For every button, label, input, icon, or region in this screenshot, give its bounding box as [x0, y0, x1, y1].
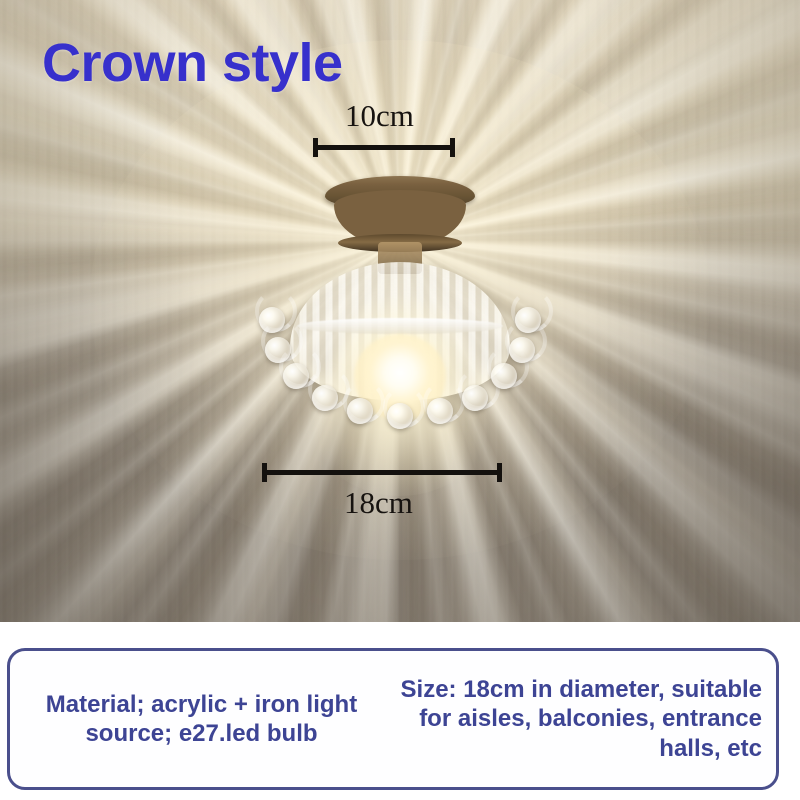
crown-knob — [515, 307, 541, 333]
crown-knob — [427, 398, 453, 424]
size-spec-text: Size: 18cm in diameter, suitable for ais… — [393, 675, 762, 763]
specification-box: Material; acrylic + iron light source; e… — [7, 648, 779, 790]
dimension-diameter-line — [262, 470, 502, 475]
product-photo: Crown style 10cm 18cm — [0, 0, 800, 622]
crown-knob — [387, 403, 413, 429]
crown-knob — [491, 363, 517, 389]
crown-knob — [462, 385, 488, 411]
ceiling-light-fixture — [250, 176, 550, 436]
page-title: Crown style — [42, 32, 343, 94]
crown-knob — [312, 385, 338, 411]
dimension-height-line — [313, 145, 455, 150]
dimension-diameter-label: 18cm — [344, 485, 413, 521]
material-spec-text: Material; acrylic + iron light source; e… — [20, 690, 393, 749]
dimension-height-label: 10cm — [345, 98, 414, 134]
crown-knob — [509, 337, 535, 363]
crown-knob-ring — [250, 262, 550, 442]
